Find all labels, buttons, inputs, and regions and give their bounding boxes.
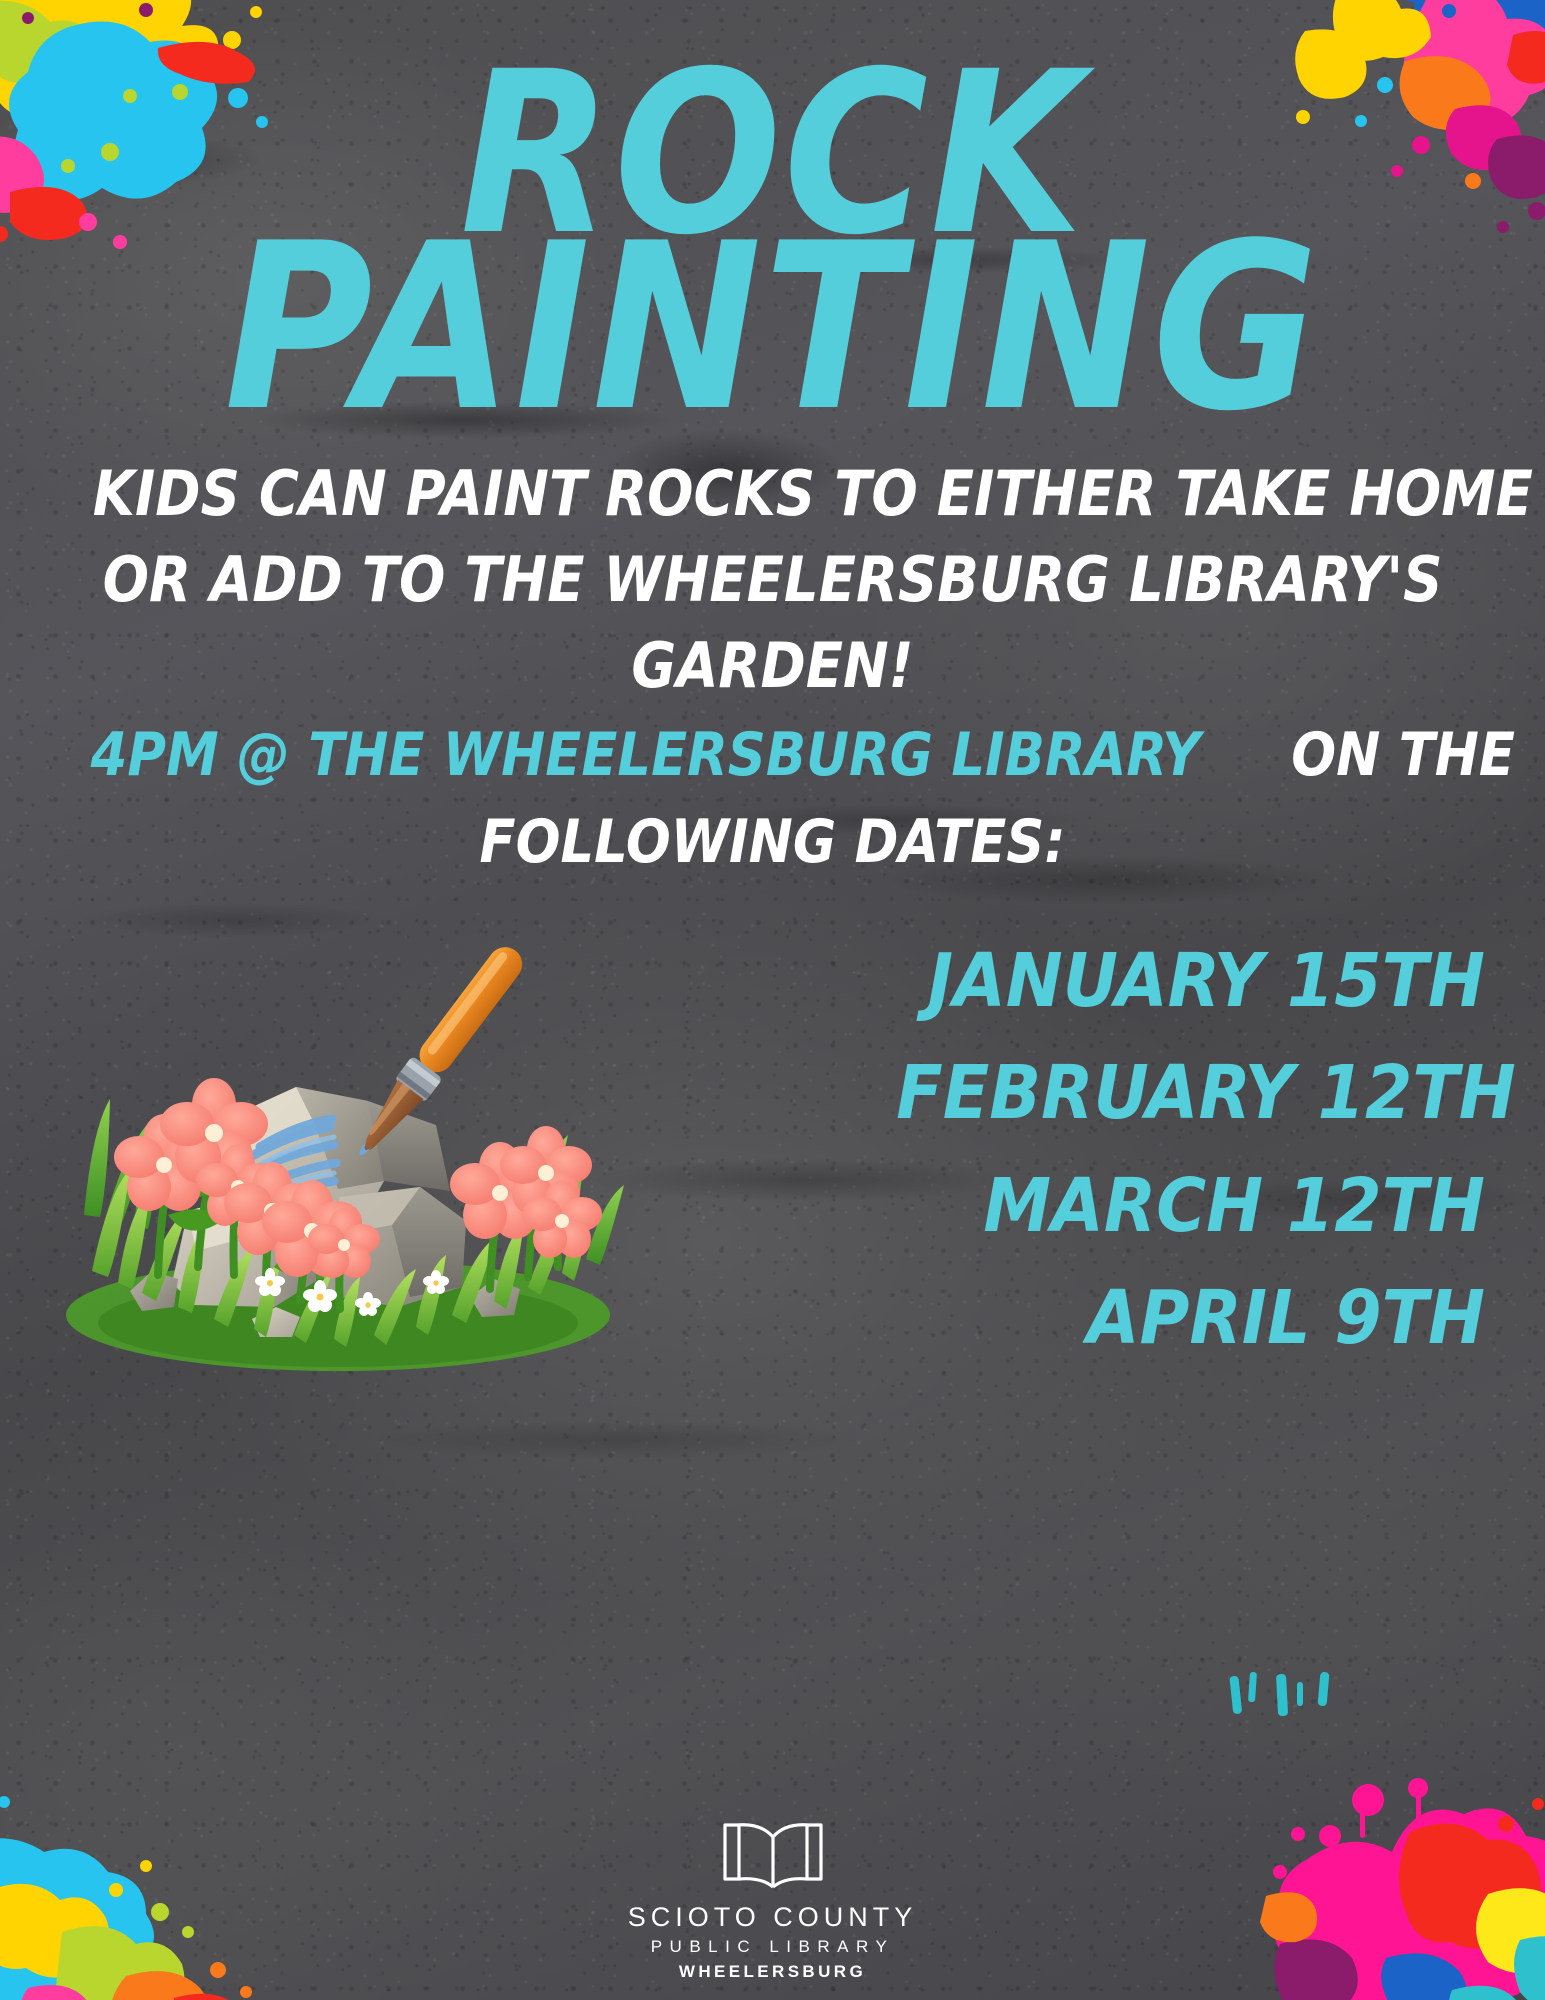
rock-garden-illustration (38, 915, 658, 1375)
date-item: APRIL 9TH (896, 1262, 1485, 1374)
body-line-4: 4PM @ THE WHEELERSBURG LIBRARY ON THE (0, 724, 1545, 786)
rock-painting-poster: ROCK PAINTING KIDS CAN PAINT ROCKS TO EI… (0, 0, 1545, 2000)
body-line-2: OR ADD TO THE WHEELERSBURG LIBRARY'S (93, 548, 1453, 611)
open-book-icon (721, 1819, 825, 1891)
time-and-location-text: 4PM @ THE WHEELERSBURG LIBRARY (90, 725, 1200, 786)
page-title-line2: PAINTING (93, 232, 1453, 425)
event-dates-list: JANUARY 15TH FEBRUARY 12TH MARCH 12TH AP… (845, 925, 1485, 1375)
teal-brush-dabs (1225, 1672, 1345, 1728)
logo-county-name: SCIOTO COUNTY (0, 1902, 1545, 1933)
date-item: MARCH 12TH (896, 1150, 1485, 1262)
logo-subtitle: PUBLIC LIBRARY (0, 1937, 1545, 1957)
on-the-text: ON THE (1291, 725, 1515, 786)
date-item: JANUARY 15TH (896, 925, 1485, 1037)
logo-branch-name: WHEELERSBURG (0, 1962, 1545, 1982)
body-line-1: KIDS CAN PAINT ROCKS TO EITHER TAKE HOME (93, 462, 1453, 525)
date-item: FEBRUARY 12TH (896, 1037, 1485, 1149)
library-logo: SCIOTO COUNTY PUBLIC LIBRARY WHEELERSBUR… (0, 1819, 1545, 1982)
body-line-3: GARDEN! (93, 634, 1453, 697)
body-line-5: FOLLOWING DATES: (93, 812, 1453, 873)
